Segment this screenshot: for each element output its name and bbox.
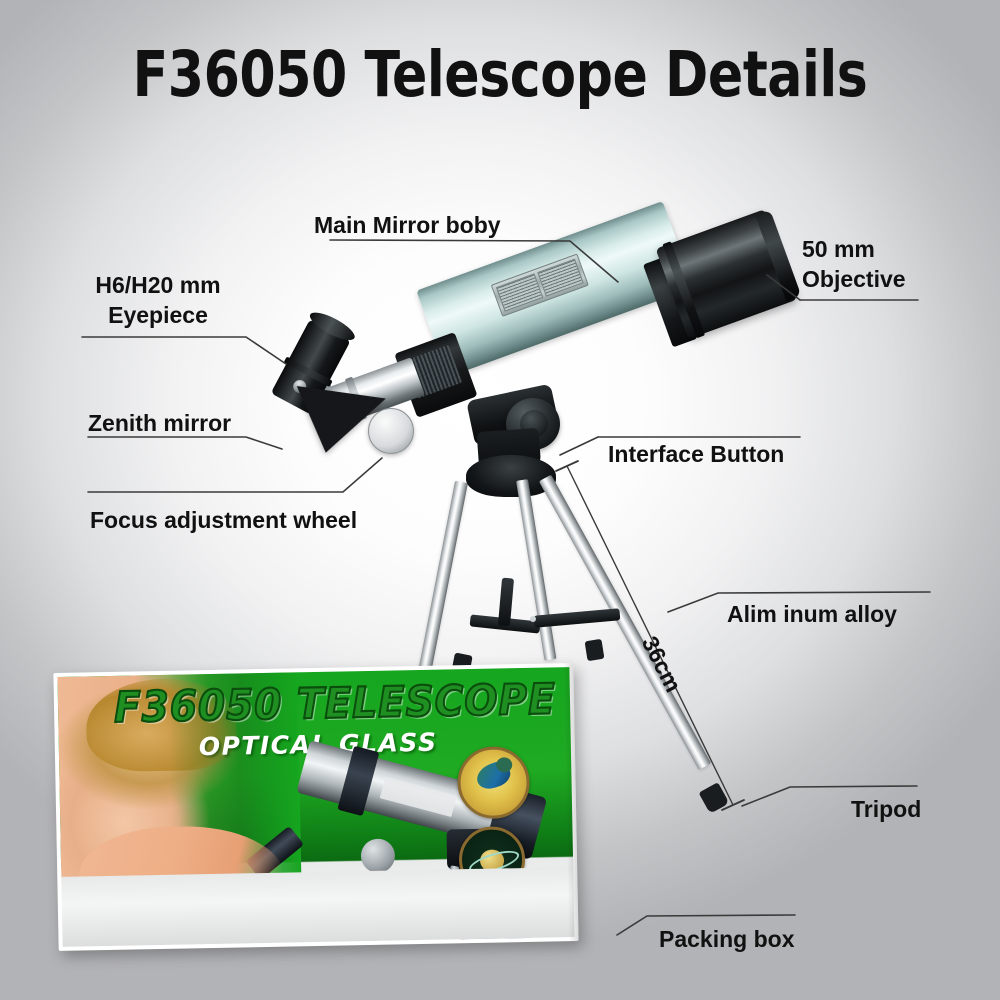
eyepiece-top-rim [306, 308, 358, 346]
callout-eyepiece-line2: Eyepiece [72, 301, 244, 331]
infographic-canvas: F36050 Telescope Details [0, 0, 1000, 1000]
tripod-leg-left [419, 481, 468, 670]
callout-zenith-mirror: Zenith mirror [88, 409, 231, 438]
box-brand-title: F36050 TELESCOPE [114, 676, 557, 733]
tripod-foot-center [585, 639, 605, 661]
tube-warning-sticker [491, 253, 589, 316]
box-artwork: F36050 TELESCOPE OPTICAL GLASS [57, 667, 574, 947]
objective-front-face [755, 209, 802, 301]
callout-tripod: Tripod [851, 795, 921, 824]
callout-objective: 50 mm Objective [802, 235, 906, 295]
callout-objective-line1: 50 mm [802, 235, 906, 265]
tripod-hub-part [466, 455, 556, 497]
box-bottom-band [61, 867, 574, 947]
callout-main-mirror-body: Main Mirror boby [314, 211, 501, 240]
box-printed-label [380, 777, 457, 817]
callout-aluminum-alloy: Alim inum alloy [727, 600, 897, 629]
callout-interface-button: Interface Button [608, 440, 784, 469]
bird-head-icon [496, 757, 512, 772]
callout-focus-adjustment-wheel: Focus adjustment wheel [90, 506, 357, 535]
callout-packing-box: Packing box [659, 925, 794, 954]
box-printed-focus-wheel [361, 838, 396, 873]
eyepiece-collar [284, 356, 333, 387]
callout-eyepiece: H6/H20 mm Eyepiece [72, 271, 244, 331]
brace-pivot-dot [530, 616, 536, 622]
focus-adjustment-wheel-part [368, 408, 414, 454]
packing-box-image: F36050 TELESCOPE OPTICAL GLASS [53, 663, 578, 951]
callout-eyepiece-line1: H6/H20 mm [72, 271, 244, 301]
box-printed-band [337, 746, 379, 816]
tripod-leg-center [516, 479, 556, 661]
callout-objective-line2: Objective [802, 265, 906, 295]
tripod-foot-right [699, 782, 730, 814]
